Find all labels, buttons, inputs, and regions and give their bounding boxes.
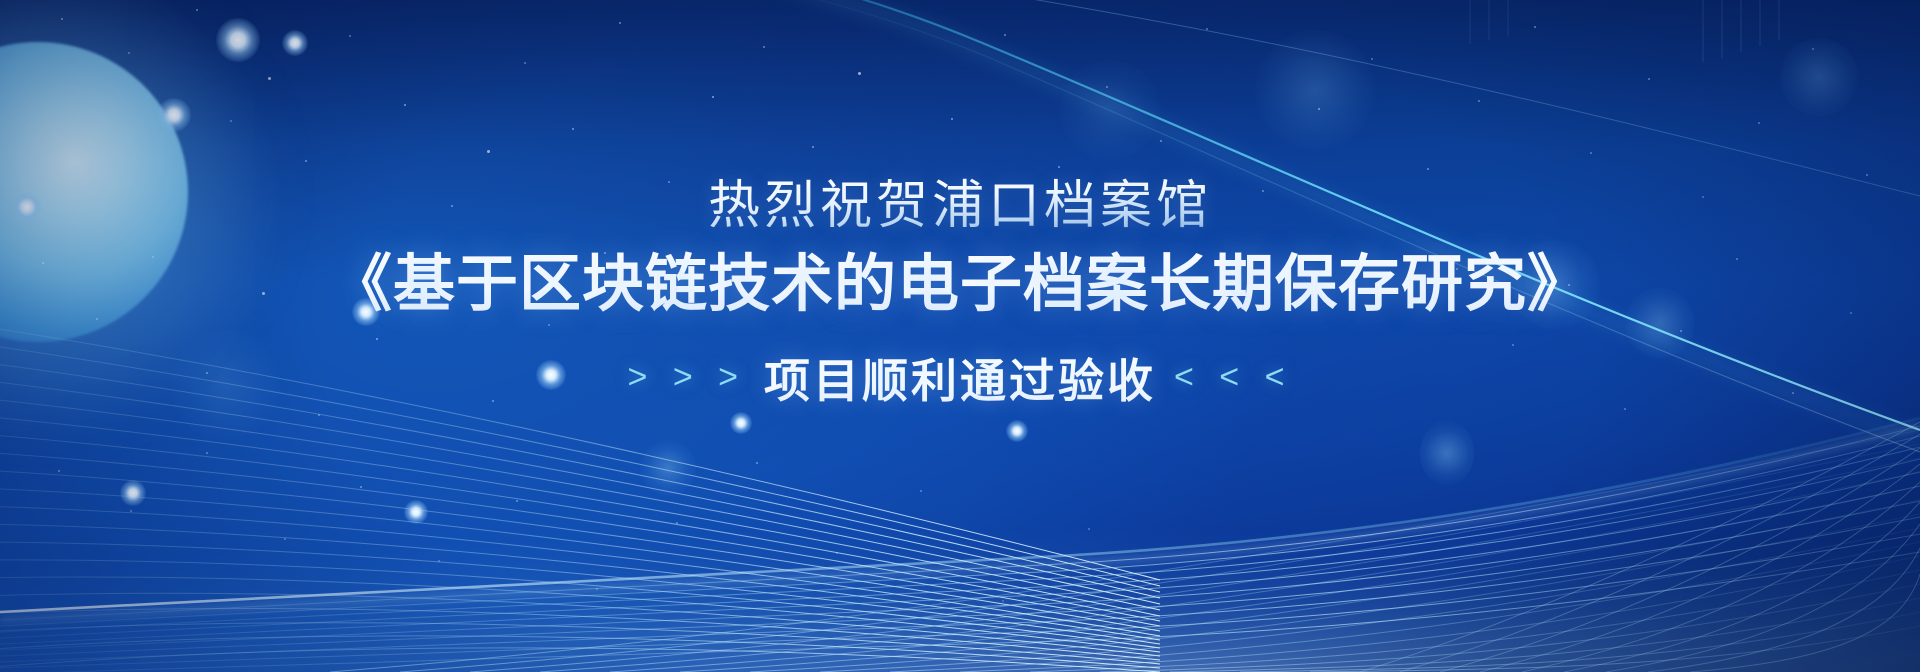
- banner-content: 热烈祝贺浦口档案馆 《基于区块链技术的电子档案长期保存研究》 > > > 项目顺…: [0, 0, 1920, 672]
- status-text: 项目顺利通过验收: [764, 345, 1156, 411]
- promotional-banner: 热烈祝贺浦口档案馆 《基于区块链技术的电子档案长期保存研究》 > > > 项目顺…: [0, 0, 1920, 672]
- chevron-left-marker-icon: < < <: [1174, 358, 1292, 397]
- project-title-text: 《基于区块链技术的电子档案长期保存研究》: [330, 248, 1590, 322]
- status-line: > > > 项目顺利通过验收 < < <: [628, 345, 1293, 411]
- headline-text: 热烈祝贺浦口档案馆: [708, 176, 1212, 236]
- chevron-right-marker-icon: > > >: [628, 358, 746, 397]
